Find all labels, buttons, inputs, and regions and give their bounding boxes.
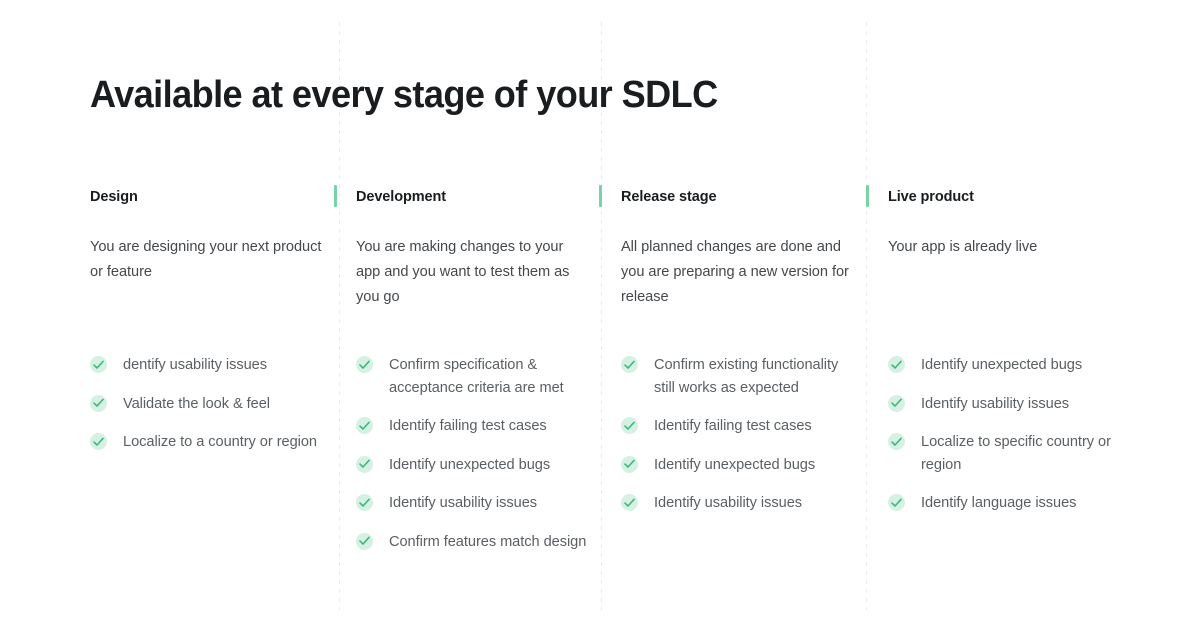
list-item: Identify failing test cases xyxy=(621,415,856,438)
check-circle-icon xyxy=(356,417,373,434)
stage-column-release: Release stage All planned changes are do… xyxy=(621,186,856,310)
list-item-label: Identify language issues xyxy=(921,495,1076,511)
column-checklist: Confirm existing functionality still wor… xyxy=(621,354,856,515)
list-item: Identify failing test cases xyxy=(356,415,588,438)
column-description: You are designing your next product or f… xyxy=(90,235,322,285)
stage-column-development: Development You are making changes to yo… xyxy=(356,186,588,310)
accent-bar-icon xyxy=(599,185,602,207)
list-item-label: Identify usability issues xyxy=(654,495,802,511)
check-circle-icon xyxy=(888,395,905,412)
column-heading-label: Design xyxy=(90,189,138,205)
list-item: dentify usability issues xyxy=(90,354,322,377)
list-item-label: Identify usability issues xyxy=(389,495,537,511)
check-circle-icon xyxy=(621,494,638,511)
list-item-label: Confirm specification & acceptance crite… xyxy=(389,357,564,396)
list-item-label: Identify unexpected bugs xyxy=(654,457,815,473)
list-item-label: Confirm existing functionality still wor… xyxy=(654,357,838,396)
list-item: Confirm specification & acceptance crite… xyxy=(356,354,588,399)
list-item-label: Confirm features match design xyxy=(389,534,586,550)
column-description: You are making changes to your app and y… xyxy=(356,235,588,310)
list-item: Confirm features match design xyxy=(356,531,588,554)
check-circle-icon xyxy=(621,456,638,473)
column-heading: Development xyxy=(356,186,588,208)
accent-bar-icon xyxy=(866,185,869,207)
list-item: Confirm existing functionality still wor… xyxy=(621,354,856,399)
list-item: Identify language issues xyxy=(888,492,1123,515)
list-item-label: Validate the look & feel xyxy=(123,396,270,412)
column-heading-label: Release stage xyxy=(621,189,716,205)
column-heading-label: Live product xyxy=(888,189,974,205)
column-divider-3 xyxy=(866,22,867,610)
list-item-label: Identify unexpected bugs xyxy=(389,457,550,473)
check-circle-icon xyxy=(621,356,638,373)
check-circle-icon xyxy=(356,356,373,373)
check-circle-icon xyxy=(356,533,373,550)
check-circle-icon xyxy=(90,356,107,373)
column-description: Your app is already live xyxy=(888,235,1123,260)
check-circle-icon xyxy=(356,456,373,473)
list-item-label: dentify usability issues xyxy=(123,357,267,373)
column-heading: Live product xyxy=(888,186,1123,208)
list-item: Validate the look & feel xyxy=(90,393,322,416)
list-item: Identify usability issues xyxy=(356,492,588,515)
list-item-label: Identify usability issues xyxy=(921,396,1069,412)
list-item: Identify usability issues xyxy=(621,492,856,515)
list-item: Localize to a country or region xyxy=(90,431,322,454)
list-item: Identify unexpected bugs xyxy=(621,454,856,477)
list-item-label: Localize to specific country or region xyxy=(921,434,1111,473)
column-heading-label: Development xyxy=(356,189,446,205)
column-checklist: dentify usability issues Validate the lo… xyxy=(90,354,322,454)
list-item: Identify usability issues xyxy=(888,393,1123,416)
list-item-label: Localize to a country or region xyxy=(123,434,317,450)
list-item: Localize to specific country or region xyxy=(888,431,1123,476)
list-item-label: Identify unexpected bugs xyxy=(921,357,1082,373)
list-item: Identify unexpected bugs xyxy=(356,454,588,477)
column-checklist: Identify unexpected bugs Identify usabil… xyxy=(888,354,1123,515)
check-circle-icon xyxy=(621,417,638,434)
check-circle-icon xyxy=(888,433,905,450)
check-circle-icon xyxy=(356,494,373,511)
list-item-label: Identify failing test cases xyxy=(389,418,547,434)
stage-column-design: Design You are designing your next produ… xyxy=(90,186,322,285)
column-checklist: Confirm specification & acceptance crite… xyxy=(356,354,588,553)
column-heading: Design xyxy=(90,186,322,208)
stage-column-live-product: Live product Your app is already live Id… xyxy=(888,186,1123,260)
check-circle-icon xyxy=(888,494,905,511)
check-circle-icon xyxy=(90,433,107,450)
list-item-label: Identify failing test cases xyxy=(654,418,812,434)
check-circle-icon xyxy=(90,395,107,412)
accent-bar-icon xyxy=(334,185,337,207)
stage-overview-graphic: Available at every stage of your SDLC De… xyxy=(0,0,1200,630)
column-description: All planned changes are done and you are… xyxy=(621,235,856,310)
list-item: Identify unexpected bugs xyxy=(888,354,1123,377)
check-circle-icon xyxy=(888,356,905,373)
column-heading: Release stage xyxy=(621,186,856,208)
page-title: Available at every stage of your SDLC xyxy=(90,72,718,118)
